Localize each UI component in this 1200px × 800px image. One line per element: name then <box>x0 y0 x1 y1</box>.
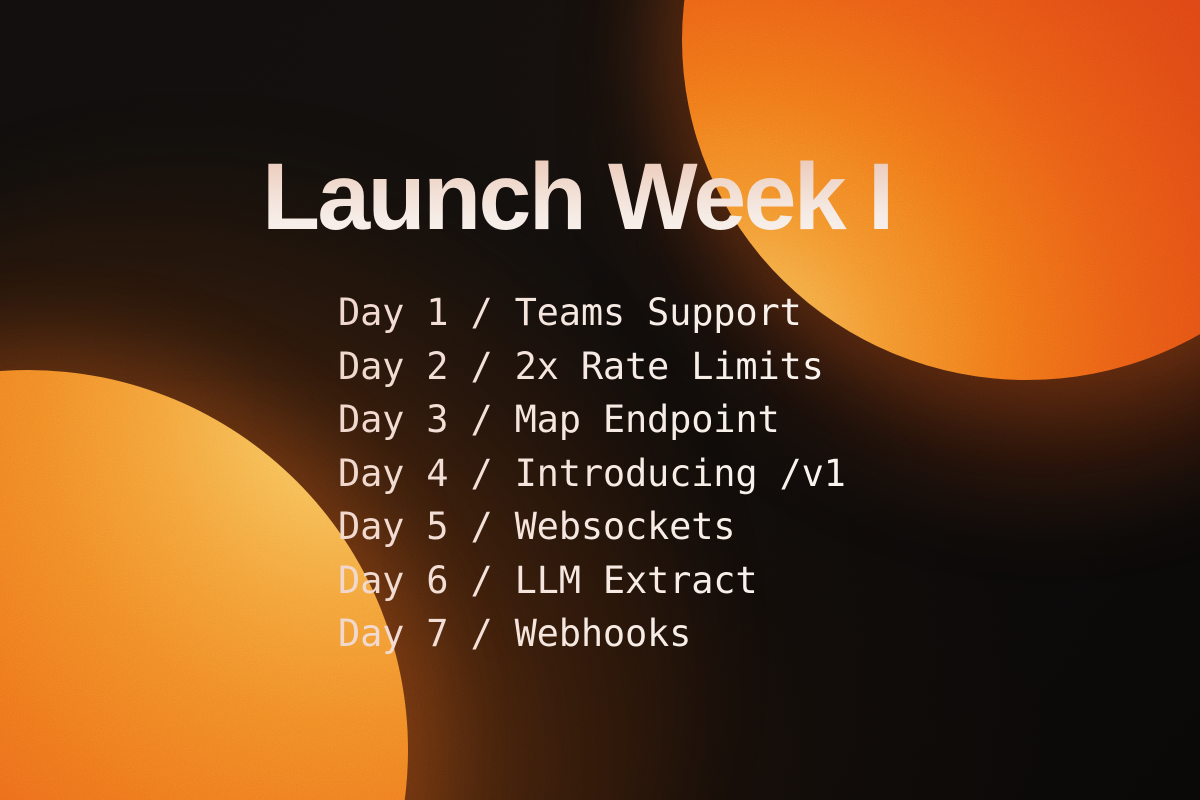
launch-week-poster: Launch Week I Day 1 / Teams Support Day … <box>0 0 1200 800</box>
page-title: Launch Week I <box>262 150 892 245</box>
list-item: Day 3 / Map Endpoint <box>338 393 846 447</box>
poster-content: Launch Week I Day 1 / Teams Support Day … <box>0 0 1200 800</box>
schedule-list: Day 1 / Teams Support Day 2 / 2x Rate Li… <box>338 286 846 661</box>
list-item: Day 5 / Websockets <box>338 500 846 554</box>
list-item: Day 6 / LLM Extract <box>338 554 846 608</box>
list-item: Day 4 / Introducing /v1 <box>338 447 846 501</box>
list-item: Day 2 / 2x Rate Limits <box>338 340 846 394</box>
list-item: Day 7 / Webhooks <box>338 607 846 661</box>
list-item: Day 1 / Teams Support <box>338 286 846 340</box>
